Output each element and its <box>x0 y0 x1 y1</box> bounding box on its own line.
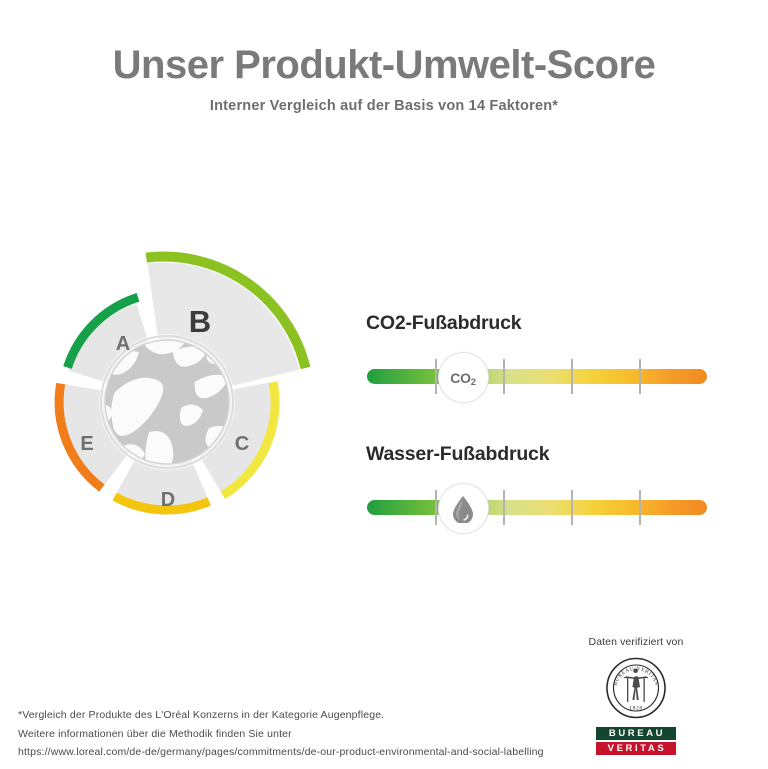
verifier-block: Daten verifiziert von BUREAU VERITAS <box>546 636 726 756</box>
seal-year: 1828 <box>629 706 643 712</box>
footprint-panel: CO2-Fußabdruck CO2 Wasser-Fußabdruck <box>366 312 716 574</box>
water-tick-1 <box>435 490 437 525</box>
dial-letter-e: E <box>80 433 93 455</box>
co2-tick-1 <box>435 359 437 394</box>
water-footprint-title: Wasser-Fußabdruck <box>366 443 716 466</box>
bureau-veritas-seal-icon: BUREAU VERITAS 1828 <box>602 657 670 719</box>
footnote: *Vergleich der Produkte des L'Oréal Konz… <box>18 706 544 762</box>
water-footprint-scale[interactable] <box>366 486 708 530</box>
dial-letter-d: D <box>161 489 175 511</box>
page-subtitle: Interner Vergleich auf der Basis von 14 … <box>0 98 768 114</box>
co2-marker[interactable]: CO2 <box>438 352 489 403</box>
co2-footprint-block: CO2-Fußabdruck CO2 <box>366 312 716 399</box>
bureau-veritas-logo: BUREAU VERITAS 1828 BUREAU VERITAS <box>596 657 676 755</box>
bv-word-bureau: BUREAU <box>596 727 676 740</box>
dial-letter-b: B <box>189 304 211 339</box>
footnote-line-1: *Vergleich der Produkte des L'Oréal Konz… <box>18 706 544 725</box>
co2-icon: CO2 <box>450 370 475 386</box>
co2-gradient-bar <box>367 369 707 384</box>
water-tick-3 <box>571 490 573 525</box>
co2-tick-3 <box>571 359 573 394</box>
dial-letter-a: A <box>116 333 130 355</box>
water-tick-4 <box>639 490 641 525</box>
page-header: Unser Produkt-Umwelt-Score Interner Verg… <box>0 44 768 114</box>
water-footprint-block: Wasser-Fußabdruck <box>366 443 716 530</box>
page-title: Unser Produkt-Umwelt-Score <box>0 44 768 86</box>
dial-letter-c: C <box>235 433 249 455</box>
water-gradient-bar <box>367 500 707 515</box>
bv-word-veritas: VERITAS <box>596 742 676 755</box>
co2-footprint-title: CO2-Fußabdruck <box>366 312 716 335</box>
water-marker[interactable] <box>438 483 489 534</box>
co2-footprint-scale[interactable]: CO2 <box>366 355 708 399</box>
score-dial-svg: A B C D E <box>45 232 335 532</box>
water-tick-2 <box>503 490 505 525</box>
water-drop-icon <box>452 495 474 523</box>
co2-tick-4 <box>639 359 641 394</box>
co2-tick-2 <box>503 359 505 394</box>
environmental-score-dial: A B C D E <box>45 232 335 532</box>
verifier-caption: Daten verifiziert von <box>546 636 726 648</box>
footnote-line-2: Weitere informationen über die Methodik … <box>18 725 544 744</box>
footnote-url[interactable]: https://www.loreal.com/de-de/germany/pag… <box>18 743 544 762</box>
